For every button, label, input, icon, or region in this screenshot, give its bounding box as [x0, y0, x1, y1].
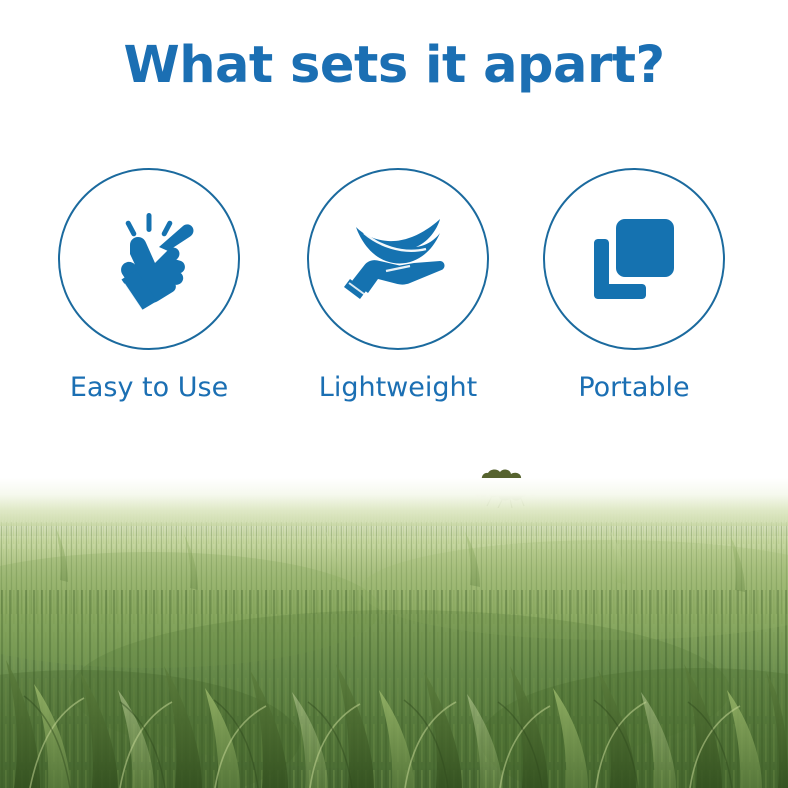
feature-list: Easy to Use — [0, 168, 788, 428]
feature-label: Easy to Use — [56, 372, 242, 403]
grass-field — [0, 440, 788, 788]
feature-item-easy-to-use[interactable]: Easy to Use — [56, 168, 242, 403]
feature-label: Portable — [541, 372, 727, 403]
feature-circle — [58, 168, 240, 350]
feature-item-lightweight[interactable]: Lightweight — [305, 168, 491, 403]
feature-circle — [307, 168, 489, 350]
feature-item-portable[interactable]: Portable — [541, 168, 727, 403]
promo-graphic: What sets it apart? — [0, 0, 788, 788]
page-title: What sets it apart? — [0, 38, 788, 94]
feature-circle — [543, 168, 725, 350]
grass-field-photo — [0, 440, 788, 788]
horizon-bush — [470, 466, 540, 508]
feature-label: Lightweight — [305, 372, 491, 403]
